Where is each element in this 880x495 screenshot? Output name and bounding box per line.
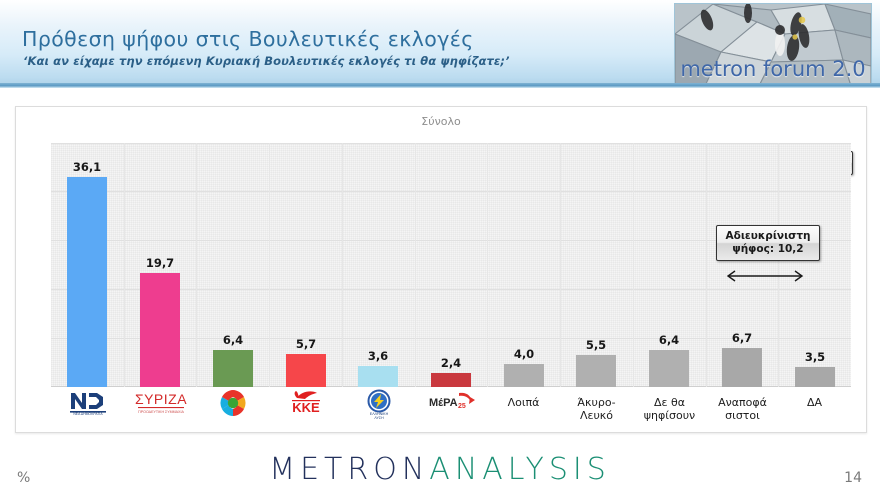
category-label: ΚΚΕ: [269, 389, 342, 417]
category-label: ΝΕΑ ΔΗΜΟΚΡΑΤΙΑ: [51, 389, 124, 415]
bar: [358, 366, 398, 387]
bar: [213, 350, 253, 387]
category-label: ΕΛΛΗΝΙΚΗΛΥΣΗ: [342, 389, 415, 421]
total-label: Σύνολο: [16, 115, 866, 128]
category-axis: ΝΕΑ ΔΗΜΟΚΡΑΤΙΑΣΥΡΙΖΑΠΡΟΟΔΕΥΤΙΚΗ ΣΥΜΜΑΧΙΑ…: [51, 389, 851, 433]
svg-text:MέΡΑ: MέΡΑ: [429, 397, 458, 409]
bar: [504, 364, 544, 387]
chart-panel: Σύνολο 34,819,25,85,23,63,2 Δεκέμβριος 2…: [15, 106, 867, 433]
plot-area: 36,119,76,45,73,62,44,05,56,46,73,5 Αδιε…: [51, 143, 851, 387]
bar: [576, 355, 616, 387]
undecided-annotation: Αδιευκρίνιστη ψήφος: 10,2: [716, 225, 820, 261]
syriza-logo-icon: ΣΥΡΙΖΑΠΡΟΟΔΕΥΤΙΚΗ ΣΥΜΜΑΧΙΑ: [124, 389, 197, 415]
bar-value-label: 6,7: [712, 331, 772, 345]
elliniki-lysi-logo-icon: ΕΛΛΗΝΙΚΗΛΥΣΗ: [342, 389, 415, 421]
category-label: Λοιπά: [487, 389, 560, 409]
bar-value-label: 3,5: [785, 350, 845, 364]
category-label: MέΡΑ25: [415, 389, 488, 415]
svg-text:25: 25: [458, 403, 466, 410]
bar: [67, 177, 107, 387]
bar-value-label: 5,7: [276, 337, 336, 351]
bar: [649, 350, 689, 387]
metron-forum-logo: metron forum 2.0: [674, 3, 872, 87]
category-label: Αναποφά σιστοι: [706, 389, 779, 422]
kke-logo-icon: ΚΚΕ: [269, 389, 342, 417]
nd-logo-icon: ΝΕΑ ΔΗΜΟΚΡΑΤΙΑ: [51, 389, 124, 415]
bar: [431, 373, 471, 387]
svg-text:ΚΚΕ: ΚΚΕ: [292, 400, 320, 415]
bar-value-label: 4,0: [494, 347, 554, 361]
bar-value-label: 2,4: [421, 356, 481, 370]
svg-text:ΣΥΡΙΖΑ: ΣΥΡΙΖΑ: [134, 391, 186, 407]
bar-value-label: 5,5: [566, 338, 626, 352]
brand-analysis: ANALYSIS: [429, 452, 610, 487]
brand-metron: METRON: [269, 452, 429, 487]
page-title: Πρόθεση ψήφου στις Βουλευτικές εκλογές: [22, 27, 474, 51]
bar: [286, 354, 326, 387]
kinal-logo-icon: [196, 389, 269, 417]
category-text: Άκυρο- Λευκό: [560, 389, 633, 422]
page-subtitle: ‘Και αν είχαμε την επόμενη Κυριακή Βουλε…: [23, 54, 510, 68]
category-text: ΔΑ: [778, 389, 851, 409]
logo-text: metron forum 2.0: [680, 57, 865, 81]
category-text: Λοιπά: [487, 389, 560, 409]
category-label: Άκυρο- Λευκό: [560, 389, 633, 422]
category-label: ΣΥΡΙΖΑΠΡΟΟΔΕΥΤΙΚΗ ΣΥΜΜΑΧΙΑ: [124, 389, 197, 415]
bar: [795, 367, 835, 387]
category-label: [196, 389, 269, 417]
category-label: ΔΑ: [778, 389, 851, 409]
bar-value-label: 6,4: [203, 333, 263, 347]
category-text: Αναποφά σιστοι: [706, 389, 779, 422]
mera25-logo-icon: MέΡΑ25: [415, 389, 488, 415]
svg-text:ΝΕΑ ΔΗΜΟΚΡΑΤΙΑ: ΝΕΑ ΔΗΜΟΚΡΑΤΙΑ: [73, 412, 103, 415]
bar-value-label: 36,1: [57, 160, 117, 174]
metron-analysis-brand: METRONANALYSIS: [0, 452, 880, 487]
bar-value-label: 3,6: [348, 349, 408, 363]
bar-value-label: 6,4: [639, 333, 699, 347]
svg-text:ΠΡΟΟΔΕΥΤΙΚΗ ΣΥΜΜΑΧΙΑ: ΠΡΟΟΔΕΥΤΙΚΗ ΣΥΜΜΑΧΙΑ: [138, 410, 184, 414]
bar-value-label: 19,7: [130, 256, 190, 270]
double-arrow-icon: [723, 269, 807, 283]
page-header: Πρόθεση ψήφου στις Βουλευτικές εκλογές ‘…: [0, 0, 880, 88]
bar: [140, 273, 180, 387]
category-text: Δε θα ψηφίσουν: [633, 389, 706, 422]
svg-text:ΛΥΣΗ: ΛΥΣΗ: [374, 416, 384, 420]
bar: [722, 348, 762, 387]
category-label: Δε θα ψηφίσουν: [633, 389, 706, 422]
